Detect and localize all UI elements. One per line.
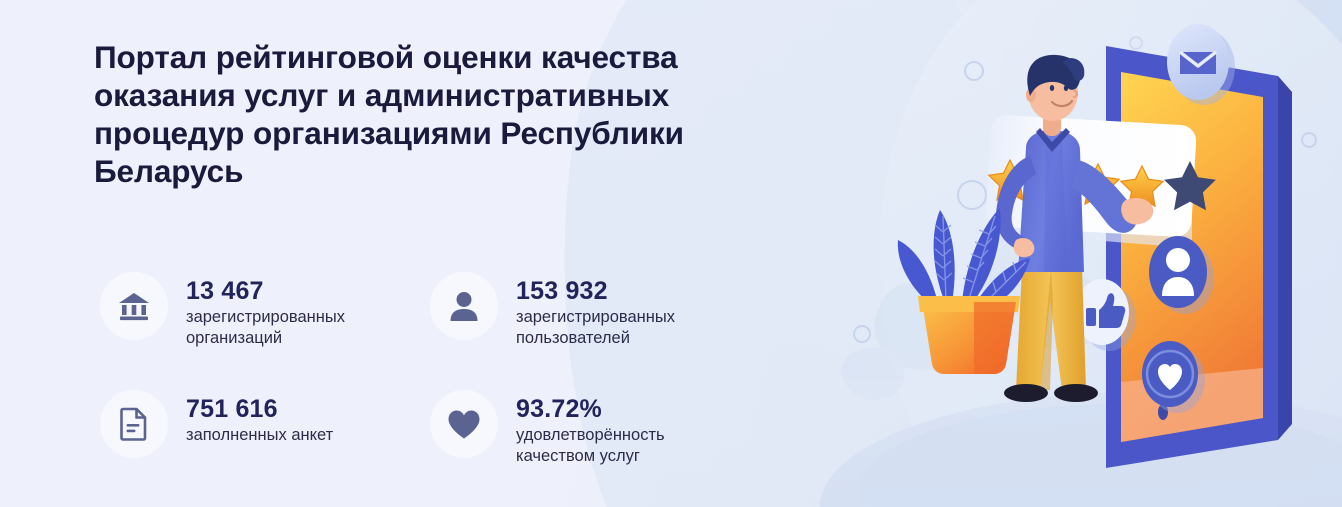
stat-text: 93.72% удовлетворённость качеством услуг bbox=[516, 390, 746, 467]
stat-item-users: 153 932 зарегистрированных пользователей bbox=[430, 272, 760, 390]
heart-icon bbox=[430, 390, 498, 458]
hero-content: Портал рейтинговой оценки качества оказа… bbox=[94, 38, 814, 190]
user-icon bbox=[430, 272, 498, 340]
stat-value: 93.72% bbox=[516, 394, 746, 424]
stat-item-questionnaires: 751 616 заполненных анкет bbox=[100, 390, 430, 467]
stat-item-satisfaction: 93.72% удовлетворённость качеством услуг bbox=[430, 390, 760, 467]
rating-illustration bbox=[840, 0, 1342, 507]
stat-text: 153 932 зарегистрированных пользователей bbox=[516, 272, 746, 349]
stat-text: 13 467 зарегистрированных организаций bbox=[186, 272, 416, 349]
stat-item-organizations: 13 467 зарегистрированных организаций bbox=[100, 272, 430, 390]
stat-label: удовлетворённость качеством услуг bbox=[516, 425, 746, 467]
stat-value: 153 932 bbox=[516, 276, 746, 306]
document-icon bbox=[100, 390, 168, 458]
stats-grid: 13 467 зарегистрированных организаций 15… bbox=[100, 272, 820, 467]
stat-value: 13 467 bbox=[186, 276, 416, 306]
stat-text: 751 616 заполненных анкет bbox=[186, 390, 333, 446]
hero-banner: Портал рейтинговой оценки качества оказа… bbox=[0, 0, 1342, 507]
stat-label: зарегистрированных пользователей bbox=[516, 307, 746, 349]
bank-icon bbox=[100, 272, 168, 340]
stat-label: заполненных анкет bbox=[186, 425, 333, 446]
stat-value: 751 616 bbox=[186, 394, 333, 424]
page-title: Портал рейтинговой оценки качества оказа… bbox=[94, 38, 794, 190]
stat-label: зарегистрированных организаций bbox=[186, 307, 416, 349]
